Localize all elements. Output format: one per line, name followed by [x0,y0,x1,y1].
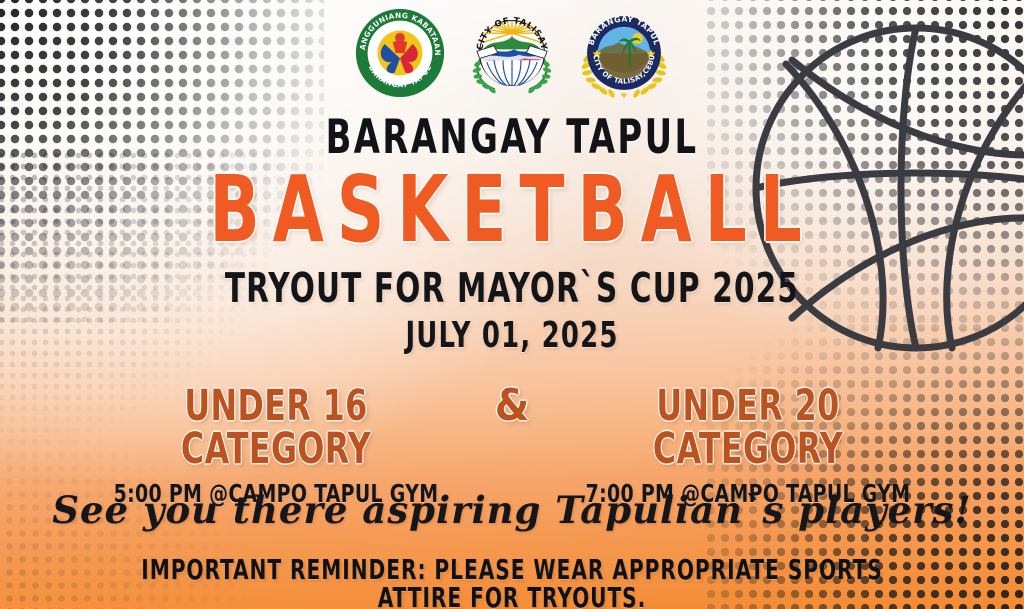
headline-barangay: BARANGAY TAPUL [102,114,921,161]
barangay-tapul-seal-icon: BARANGAY TAPUL CITY OF TALISAY,CEBU [579,8,669,98]
logo-row: SANGGUNIANG KABATAAN BARANGAY TAPUL [0,8,1024,98]
subtitle-tryout: TRYOUT FOR MAYOR`S CUP 2025 [102,268,921,309]
headline-basketball: BASKETBALL [102,164,921,256]
category-title: UNDER 16 CATEGORY [112,385,440,471]
script-tagline: See you there aspiring Tapulian`s player… [0,492,1024,529]
category-separator: & [476,384,548,428]
event-date: JULY 01, 2025 [102,318,921,354]
important-reminder: IMPORTANT REMINDER: PLEASE WEAR APPROPRI… [102,556,921,609]
ampersand-label: & [476,384,548,428]
city-of-talisay-seal-icon: CITY OF TALISAY [467,8,557,98]
sangguniang-kabataan-seal-icon: SANGGUNIANG KABATAAN BARANGAY TAPUL [355,8,445,98]
poster-canvas: SANGGUNIANG KABATAAN BARANGAY TAPUL [0,0,1024,609]
category-title: UNDER 20 CATEGORY [584,385,912,471]
